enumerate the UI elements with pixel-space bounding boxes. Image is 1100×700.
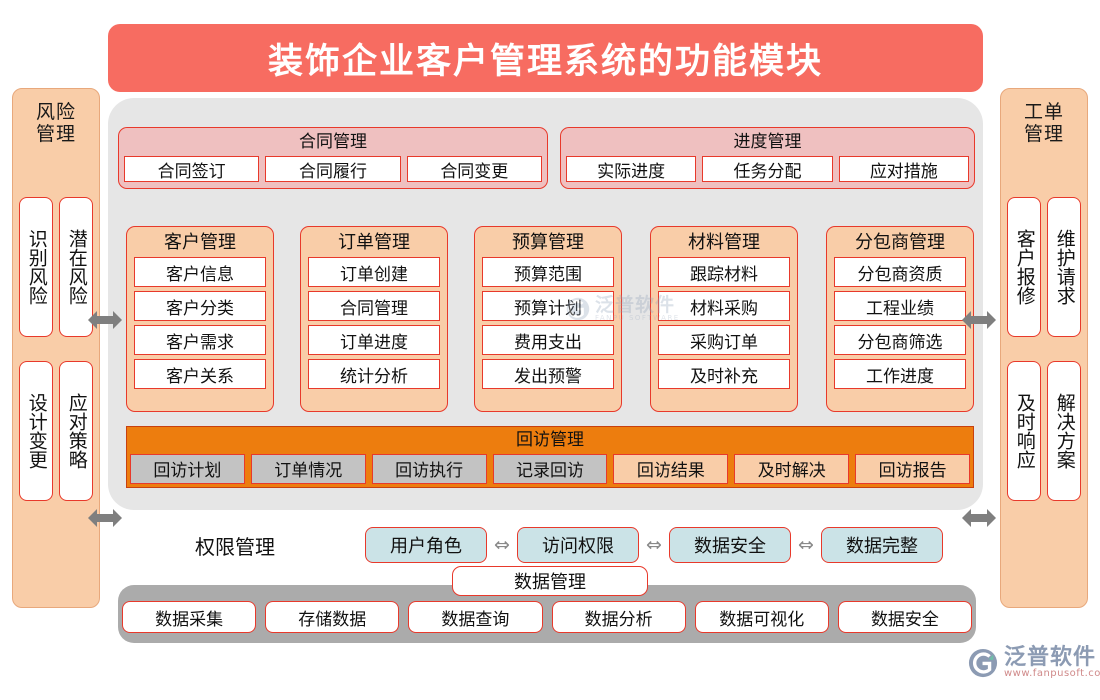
data-item-query[interactable]: 数据查询 <box>408 601 542 633</box>
connector-arrow-left-bottom <box>88 508 122 528</box>
order-item-progress[interactable]: 订单进度 <box>308 325 440 355</box>
material-item-purchase-order[interactable]: 采购订单 <box>658 325 790 355</box>
module-column-order-title: 订单管理 <box>308 231 440 254</box>
followup-management-bar[interactable]: 回访管理 回访计划 订单情况 回访执行 记录回访 回访结果 及时解决 回访报告 <box>126 426 974 488</box>
page-title-banner: 装饰企业客户管理系统的功能模块 <box>108 24 983 92</box>
work-order-cell-repair[interactable]: 客户报修 <box>1007 197 1041 337</box>
followup-item-resolve[interactable]: 及时解决 <box>734 454 849 484</box>
risk-cell-design-change-label: 设计变更 <box>26 393 45 469</box>
connector-arrow-right-top <box>962 310 996 330</box>
followup-item-result[interactable]: 回访结果 <box>613 454 728 484</box>
contract-management-items: 合同签订 合同履行 合同变更 <box>124 156 542 182</box>
customer-item-category[interactable]: 客户分类 <box>134 291 266 321</box>
data-item-visualize[interactable]: 数据可视化 <box>695 601 829 633</box>
material-item-purchase[interactable]: 材料采购 <box>658 291 790 321</box>
permission-item-access[interactable]: 访问权限 <box>517 527 639 563</box>
budget-item-plan[interactable]: 预算计划 <box>482 291 614 321</box>
work-order-cell-maintenance[interactable]: 维护请求 <box>1047 197 1081 337</box>
subcontractor-item-selection[interactable]: 分包商筛选 <box>834 325 966 355</box>
work-order-title: 工单 管理 <box>1001 89 1087 146</box>
module-column-budget-title: 预算管理 <box>482 231 614 254</box>
customer-item-relation[interactable]: 客户关系 <box>134 359 266 389</box>
connector-arrow-left-top <box>88 310 122 330</box>
work-order-cell-response[interactable]: 及时响应 <box>1007 361 1041 501</box>
followup-item-record[interactable]: 记录回访 <box>493 454 608 484</box>
contract-item-change[interactable]: 合同变更 <box>407 156 542 182</box>
module-column-subcontractor-title: 分包商管理 <box>834 231 966 254</box>
module-column-budget[interactable]: 预算管理 预算范围 预算计划 费用支出 发出预警 <box>474 226 622 412</box>
bidirectional-arrow-icon: ⇔ <box>487 534 517 556</box>
risk-cell-strategy-label: 应对策略 <box>66 393 85 469</box>
bidirectional-arrow-icon: ⇔ <box>791 534 821 556</box>
budget-item-expense[interactable]: 费用支出 <box>482 325 614 355</box>
module-column-material-title: 材料管理 <box>658 231 790 254</box>
brand-logo: 泛普软件 www.fanpusoft.com <box>968 646 1100 680</box>
followup-item-plan[interactable]: 回访计划 <box>130 454 245 484</box>
work-order-cell-maintenance-label: 维护请求 <box>1054 229 1073 305</box>
work-order-cell-solution[interactable]: 解决方案 <box>1047 361 1081 501</box>
material-item-replenish[interactable]: 及时补充 <box>658 359 790 389</box>
work-order-panel[interactable]: 工单 管理 客户报修 维护请求 及时响应 解决方案 <box>1000 88 1088 608</box>
contract-management-title: 合同管理 <box>124 132 542 153</box>
followup-item-report[interactable]: 回访报告 <box>855 454 970 484</box>
progress-item-measures[interactable]: 应对措施 <box>839 156 969 182</box>
subcontractor-item-work-progress[interactable]: 工作进度 <box>834 359 966 389</box>
progress-management-items: 实际进度 任务分配 应对措施 <box>566 156 969 182</box>
data-item-store[interactable]: 存储数据 <box>265 601 399 633</box>
budget-item-scope[interactable]: 预算范围 <box>482 257 614 287</box>
module-column-subcontractor[interactable]: 分包商管理 分包商资质 工程业绩 分包商筛选 工作进度 <box>826 226 974 412</box>
permission-item-data-integrity[interactable]: 数据完整 <box>821 527 943 563</box>
work-order-group-top: 客户报修 维护请求 <box>1007 197 1081 337</box>
work-order-group-bottom: 及时响应 解决方案 <box>1007 361 1081 501</box>
permission-management-label: 权限管理 <box>195 531 365 560</box>
bidirectional-arrow-icon: ⇔ <box>639 534 669 556</box>
contract-management-group[interactable]: 合同管理 合同签订 合同履行 合同变更 <box>118 127 548 189</box>
fanpu-logo-icon <box>968 648 998 678</box>
brand-logo-url: www.fanpusoft.com <box>1004 669 1100 680</box>
contract-item-perform[interactable]: 合同履行 <box>265 156 400 182</box>
data-item-analysis[interactable]: 数据分析 <box>552 601 686 633</box>
risk-cell-potential-label: 潜在风险 <box>66 229 85 305</box>
module-column-customer[interactable]: 客户管理 客户信息 客户分类 客户需求 客户关系 <box>126 226 274 412</box>
permission-item-user-role[interactable]: 用户角色 <box>365 527 487 563</box>
followup-item-execute[interactable]: 回访执行 <box>372 454 487 484</box>
material-item-tracking[interactable]: 跟踪材料 <box>658 257 790 287</box>
risk-group-top: 识别风险 潜在风险 <box>19 197 93 337</box>
order-item-contract[interactable]: 合同管理 <box>308 291 440 321</box>
risk-cell-identify[interactable]: 识别风险 <box>19 197 53 337</box>
work-order-cell-repair-label: 客户报修 <box>1014 229 1033 305</box>
followup-items: 回访计划 订单情况 回访执行 记录回访 回访结果 及时解决 回访报告 <box>130 454 970 484</box>
permission-management-row: 权限管理 用户角色 ⇔ 访问权限 ⇔ 数据安全 ⇔ 数据完整 <box>195 524 975 566</box>
customer-item-demand[interactable]: 客户需求 <box>134 325 266 355</box>
risk-cell-identify-label: 识别风险 <box>26 229 45 305</box>
data-item-security[interactable]: 数据安全 <box>838 601 972 633</box>
customer-item-info[interactable]: 客户信息 <box>134 257 266 287</box>
module-column-material[interactable]: 材料管理 跟踪材料 材料采购 采购订单 及时补充 <box>650 226 798 412</box>
subcontractor-item-performance[interactable]: 工程业绩 <box>834 291 966 321</box>
progress-item-task-assign[interactable]: 任务分配 <box>702 156 832 182</box>
contract-item-sign[interactable]: 合同签订 <box>124 156 259 182</box>
data-management-items: 数据采集 存储数据 数据查询 数据分析 数据可视化 数据安全 <box>122 601 972 633</box>
module-column-customer-title: 客户管理 <box>134 231 266 254</box>
progress-management-title: 进度管理 <box>566 132 969 153</box>
module-column-order[interactable]: 订单管理 订单创建 合同管理 订单进度 统计分析 <box>300 226 448 412</box>
data-item-collect[interactable]: 数据采集 <box>122 601 256 633</box>
page-title: 装饰企业客户管理系统的功能模块 <box>268 33 823 84</box>
risk-management-panel[interactable]: 风险 管理 识别风险 潜在风险 设计变更 应对策略 <box>12 88 100 608</box>
work-order-cell-response-label: 及时响应 <box>1014 393 1033 469</box>
brand-logo-cn: 泛普软件 <box>1004 646 1100 669</box>
permission-item-data-security[interactable]: 数据安全 <box>669 527 791 563</box>
followup-management-title: 回访管理 <box>130 429 970 452</box>
risk-cell-design-change[interactable]: 设计变更 <box>19 361 53 501</box>
followup-item-order[interactable]: 订单情况 <box>251 454 366 484</box>
progress-item-actual[interactable]: 实际进度 <box>566 156 696 182</box>
work-order-cell-solution-label: 解决方案 <box>1054 393 1073 469</box>
diagram-root: 装饰企业客户管理系统的功能模块 风险 管理 识别风险 潜在风险 设计变更 应对策… <box>0 0 1100 700</box>
budget-item-alert[interactable]: 发出预警 <box>482 359 614 389</box>
risk-management-title: 风险 管理 <box>13 89 99 146</box>
subcontractor-item-qualification[interactable]: 分包商资质 <box>834 257 966 287</box>
risk-group-bottom: 设计变更 应对策略 <box>19 361 93 501</box>
connector-arrow-right-bottom <box>962 508 996 528</box>
risk-cell-strategy[interactable]: 应对策略 <box>59 361 93 501</box>
order-item-statistics[interactable]: 统计分析 <box>308 359 440 389</box>
progress-management-group[interactable]: 进度管理 实际进度 任务分配 应对措施 <box>560 127 975 189</box>
data-management-title: 数据管理 <box>452 566 648 596</box>
order-item-create[interactable]: 订单创建 <box>308 257 440 287</box>
